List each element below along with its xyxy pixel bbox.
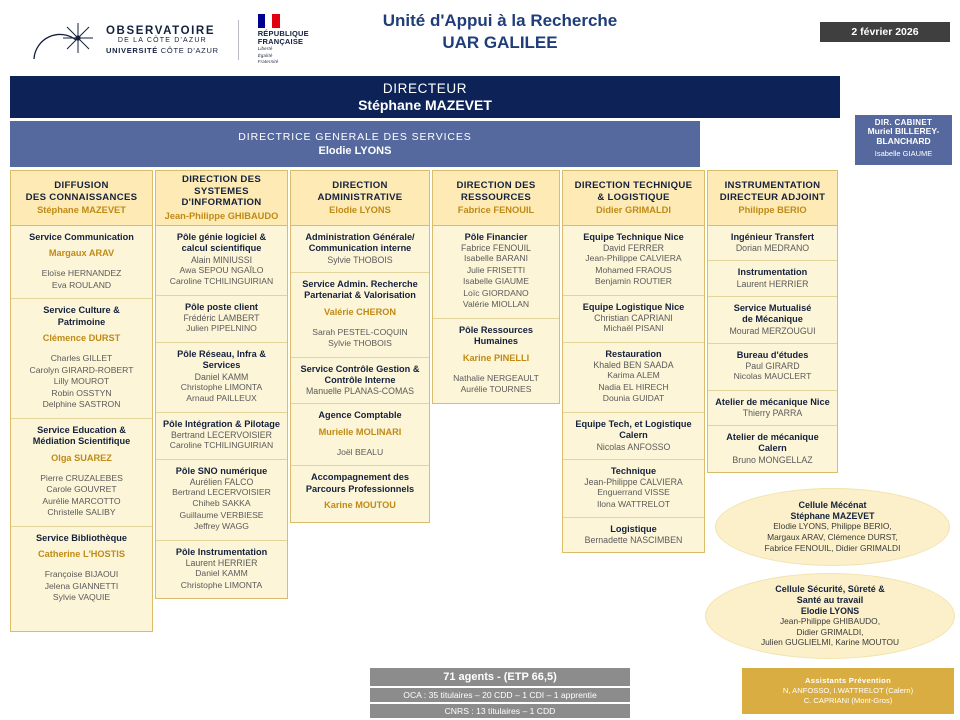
- oval-title: Cellule Sécurité, Sûreté & Santé au trav…: [720, 584, 940, 606]
- group-member: Lilly MOUROT: [15, 376, 148, 388]
- group-lead: Bruno MONGELLAZ: [712, 455, 833, 465]
- service-group[interactable]: Pôle Intégration & PilotageBertrand LECE…: [156, 413, 287, 460]
- group-lead: Bernadette NASCIMBEN: [567, 535, 700, 545]
- group-title: Administration Générale/ Communication i…: [295, 232, 425, 255]
- logo-divider: [238, 20, 239, 60]
- group-title: Equipe Technique Nice: [567, 232, 700, 243]
- group-lead: Sylvie THOBOIS: [295, 255, 425, 265]
- group-lead: Catherine L'HOSTIS: [15, 549, 148, 559]
- service-group[interactable]: Pôle Réseau, Infra & ServicesDaniel KAMM…: [156, 343, 287, 413]
- director-banner: DIRECTEUR Stéphane MAZEVET: [10, 76, 840, 118]
- group-lead: Aurélien FALCO: [160, 477, 283, 487]
- dgs-banner: DIRECTRICE GENERALE DES SERVICES Elodie …: [10, 121, 700, 167]
- oval-member-line: Didier GRIMALDI,: [720, 627, 940, 638]
- oval-member-line: Julien GUGLIELMI, Karine MOUTOU: [720, 637, 940, 648]
- group-title: Service Mutualisé de Mécanique: [712, 303, 833, 326]
- group-title: Service Admin. Recherche Partenariat & V…: [295, 279, 425, 302]
- column-body-2: Pôle génie logiciel & calcul scientifiqu…: [155, 226, 288, 599]
- group-member: Guillaume VERBIESE: [160, 510, 283, 522]
- rf-line-2: FRANÇAISE: [258, 38, 309, 46]
- cnrs-breakdown: CNRS : 13 titulaires – 1 CDD: [370, 704, 630, 718]
- dgs-role: DIRECTRICE GENERALE DES SERVICES: [10, 131, 700, 143]
- service-group[interactable]: Pôle SNO numériqueAurélien FALCOBertrand…: [156, 460, 287, 541]
- group-lead: Thierry PARRA: [712, 408, 833, 418]
- service-group[interactable]: Service Education & Médiation Scientifiq…: [11, 419, 152, 527]
- group-lead: Dorian MEDRANO: [712, 243, 833, 253]
- group-member: Jelena GIANNETTI: [15, 581, 148, 593]
- group-member: Chiheb SAKKA: [160, 498, 283, 510]
- group-member: Isabelle BARANI: [437, 253, 555, 265]
- logo-block: OBSERVATOIRE DE LA CÔTE D'AZUR UNIVERSIT…: [30, 14, 309, 66]
- group-lead: Frédéric LAMBERT: [160, 313, 283, 323]
- group-lead: Mourad MERZOUGUI: [712, 326, 833, 336]
- group-member: Robin OSSTYN: [15, 388, 148, 400]
- group-member: Michaël PISANI: [567, 323, 700, 335]
- group-member: Aurélie MARCOTTO: [15, 496, 148, 508]
- oca-line-2: DE LA CÔTE D'AZUR: [106, 37, 219, 44]
- oca-line-1: OBSERVATOIRE: [106, 25, 219, 37]
- column-head-person: Philippe BERIO: [711, 205, 834, 215]
- org-column-6: INSTRUMENTATION DIRECTEUR ADJOINTPhilipp…: [707, 170, 838, 473]
- group-title: Logistique: [567, 524, 700, 535]
- group-lead: Valérie CHERON: [295, 307, 425, 317]
- oca-line-3: UNIVERSITÉ CÔTE D'AZUR: [106, 47, 219, 55]
- group-member: Christophe LIMONTA: [160, 382, 283, 394]
- group-title: Pôle génie logiciel & calcul scientifiqu…: [160, 232, 283, 255]
- service-group[interactable]: Service CommunicationMargaux ARAVEloïse …: [11, 226, 152, 299]
- group-lead: Bertrand LECERVOISIER: [160, 430, 283, 440]
- org-column-5: DIRECTION TECHNIQUE & LOGISTIQUEDidier G…: [562, 170, 705, 553]
- group-lead: Manuelle PLANAS-COMAS: [295, 386, 425, 396]
- cabinet-box: DIR. CABINET Muriel BILLEREY-BLANCHARD I…: [855, 115, 952, 165]
- group-member: Julien PIPELNINO: [160, 323, 283, 335]
- service-group[interactable]: TechniqueJean-Philippe CALVIERAEnguerran…: [563, 460, 704, 518]
- service-group[interactable]: RestaurationKhaled BEN SAADAKarima ALEMN…: [563, 343, 704, 413]
- group-member: Benjamin ROUTIER: [567, 276, 700, 288]
- column-header-5[interactable]: DIRECTION TECHNIQUE & LOGISTIQUEDidier G…: [562, 170, 705, 226]
- service-group[interactable]: Pôle Ressources HumainesKarine PINELLINa…: [433, 319, 559, 403]
- group-lead: David FERRER: [567, 243, 700, 253]
- group-member: Nathalie NERGEAULT: [437, 373, 555, 385]
- column-header-4[interactable]: DIRECTION DES RESSOURCESFabrice FENOUIL: [432, 170, 560, 226]
- org-column-2: DIRECTION DES SYSTEMES D'INFORMATIONJean…: [155, 170, 288, 599]
- group-member: Sarah PESTEL-COQUIN: [295, 327, 425, 339]
- group-lead: Fabrice FENOUIL: [437, 243, 555, 253]
- cellule-oval-2[interactable]: Cellule Sécurité, Sûreté & Santé au trav…: [705, 573, 955, 659]
- column-title: INSTRUMENTATION DIRECTEUR ADJOINT: [711, 180, 834, 203]
- group-member: Daniel KAMM: [160, 568, 283, 580]
- group-member: Sylvie VAQUIE: [15, 592, 148, 604]
- group-lead: Laurent HERRIER: [160, 558, 283, 568]
- service-group[interactable]: LogistiqueBernadette NASCIMBEN: [563, 518, 704, 552]
- service-group[interactable]: Service Culture & PatrimoineClémence DUR…: [11, 299, 152, 418]
- prevention-box: Assistants Prévention N, ANFOSSO, I.WATT…: [742, 668, 954, 714]
- group-member: Enguerrand VISSE: [567, 487, 700, 499]
- group-member: Sylvie THOBOIS: [295, 338, 425, 350]
- group-title: Atelier de mécanique Nice: [712, 397, 833, 408]
- service-group[interactable]: Equipe Tech, et Logistique CalernNicolas…: [563, 413, 704, 460]
- org-column-3: DIRECTION ADMINISTRATIVEElodie LYONSAdmi…: [290, 170, 430, 523]
- cellule-oval-1[interactable]: Cellule MécénatStéphane MAZEVETElodie LY…: [715, 488, 950, 566]
- oval-member-line: Jean-Philippe GHIBAUDO,: [720, 616, 940, 627]
- group-lead: Karine PINELLI: [437, 353, 555, 363]
- service-group[interactable]: Equipe Logistique NiceChristian CAPRIANI…: [563, 296, 704, 343]
- group-member: Caroline TCHILINGUIRIAN: [160, 440, 283, 452]
- republique-francaise-logo: RÉPUBLIQUE FRANÇAISE Liberté Égalité Fra…: [258, 14, 309, 66]
- group-title: Technique: [567, 466, 700, 477]
- group-title: Service Contrôle Gestion & Contrôle Inte…: [295, 364, 425, 387]
- group-title: Pôle Instrumentation: [160, 547, 283, 558]
- group-title: Equipe Logistique Nice: [567, 302, 700, 313]
- column-title: DIRECTION DES RESSOURCES: [436, 180, 556, 203]
- group-member: Ilona WATTRELOT: [567, 499, 700, 511]
- group-member: Caroline TCHILINGUIRIAN: [160, 276, 283, 288]
- title-line-2: UAR GALILEE: [330, 32, 670, 54]
- service-group[interactable]: Atelier de mécanique CalernBruno MONGELL…: [708, 426, 837, 472]
- group-member: Christophe LIMONTA: [160, 580, 283, 592]
- group-member: Nicolas MAUCLERT: [712, 371, 833, 383]
- service-group[interactable]: Service Mutualisé de MécaniqueMourad MER…: [708, 297, 837, 344]
- column-title: DIRECTION TECHNIQUE & LOGISTIQUE: [566, 180, 701, 203]
- group-member: Eloïse HERNANDEZ: [15, 268, 148, 280]
- group-member: Delphine SASTRON: [15, 399, 148, 411]
- group-member: Christelle SALIBY: [15, 507, 148, 519]
- service-group[interactable]: Pôle FinancierFabrice FENOUILIsabelle BA…: [433, 226, 559, 319]
- service-group[interactable]: Service BibliothèqueCatherine L'HOSTISFr…: [11, 527, 152, 611]
- group-title: Service Education & Médiation Scientifiq…: [15, 425, 148, 448]
- service-group[interactable]: Accompagnement des Parcours Professionne…: [291, 466, 429, 522]
- column-header-3[interactable]: DIRECTION ADMINISTRATIVEElodie LYONS: [290, 170, 430, 226]
- service-group[interactable]: Service Admin. Recherche Partenariat & V…: [291, 273, 429, 358]
- group-member: Awa SEPOU NGAÏLO: [160, 265, 283, 277]
- service-group[interactable]: Equipe Technique NiceDavid FERRERJean-Ph…: [563, 226, 704, 296]
- org-column-1: DIFFUSION DES CONNAISSANCESStéphane MAZE…: [10, 170, 153, 632]
- observatoire-logo-icon: [30, 19, 96, 61]
- oval-member-line: Fabrice FENOUIL, Didier GRIMALDI: [730, 543, 935, 554]
- group-lead: Olga SUAREZ: [15, 453, 148, 463]
- group-member: Eva ROULAND: [15, 280, 148, 292]
- group-member: Pierre CRUZALEBES: [15, 473, 148, 485]
- group-member: Jeffrey WAGG: [160, 521, 283, 533]
- group-lead: Laurent HERRIER: [712, 279, 833, 289]
- group-title: Pôle Financier: [437, 232, 555, 243]
- group-member: Bertrand LECERVOISIER: [160, 487, 283, 499]
- group-lead: Daniel KAMM: [160, 372, 283, 382]
- cabinet-name: Muriel BILLEREY-BLANCHARD: [855, 127, 952, 147]
- group-member: Nadia EL HIRECH: [567, 382, 700, 394]
- group-lead: Jean-Philippe CALVIERA: [567, 477, 700, 487]
- column-header-1[interactable]: DIFFUSION DES CONNAISSANCESStéphane MAZE…: [10, 170, 153, 226]
- page-header: OBSERVATOIRE DE LA CÔTE D'AZUR UNIVERSIT…: [0, 0, 960, 68]
- service-group[interactable]: InstrumentationLaurent HERRIER: [708, 261, 837, 296]
- group-member: Isabelle GIAUME: [437, 276, 555, 288]
- group-title: Service Culture & Patrimoine: [15, 305, 148, 328]
- column-title: DIRECTION DES SYSTEMES D'INFORMATION: [159, 174, 284, 209]
- service-group[interactable]: Pôle génie logiciel & calcul scientifiqu…: [156, 226, 287, 296]
- group-lead: Clémence DURST: [15, 333, 148, 343]
- column-header-2[interactable]: DIRECTION DES SYSTEMES D'INFORMATIONJean…: [155, 170, 288, 226]
- service-group[interactable]: Pôle InstrumentationLaurent HERRIERDanie…: [156, 541, 287, 598]
- cabinet-assistant: Isabelle GIAUME: [855, 150, 952, 159]
- group-lead: Christian CAPRIANI: [567, 313, 700, 323]
- group-member: Carolyn GIRARD-ROBERT: [15, 365, 148, 377]
- group-member: Valérie MIOLLAN: [437, 299, 555, 311]
- group-title: Instrumentation: [712, 267, 833, 278]
- group-title: Service Bibliothèque: [15, 533, 148, 544]
- group-title: Service Communication: [15, 232, 148, 243]
- group-member: Charles GILLET: [15, 353, 148, 365]
- prevention-line-2: C. CAPRIANI (Mont-Gros): [742, 696, 954, 706]
- service-group[interactable]: Bureau d'étudesPaul GIRARDNicolas MAUCLE…: [708, 344, 837, 391]
- title-line-1: Unité d'Appui à la Recherche: [330, 10, 670, 32]
- group-member: Carole GOUVRET: [15, 484, 148, 496]
- group-lead: Nicolas ANFOSSO: [567, 442, 700, 452]
- column-body-6: Ingénieur TransfertDorian MEDRANOInstrum…: [707, 226, 838, 473]
- column-body-1: Service CommunicationMargaux ARAVEloïse …: [10, 226, 153, 632]
- column-head-person: Didier GRIMALDI: [566, 205, 701, 215]
- oval-lead: Elodie LYONS: [720, 606, 940, 616]
- column-header-6[interactable]: INSTRUMENTATION DIRECTEUR ADJOINTPhilipp…: [707, 170, 838, 226]
- observatoire-wordmark: OBSERVATOIRE DE LA CÔTE D'AZUR UNIVERSIT…: [106, 25, 219, 55]
- group-lead: Karine MOUTOU: [295, 500, 425, 510]
- group-title: Accompagnement des Parcours Professionne…: [295, 472, 425, 495]
- prevention-title: Assistants Prévention: [742, 676, 954, 686]
- french-flag-icon: [258, 14, 280, 28]
- group-title: Restauration: [567, 349, 700, 360]
- group-member: Françoise BIJAOUI: [15, 569, 148, 581]
- group-title: Pôle SNO numérique: [160, 466, 283, 477]
- oca-universite-rest: CÔTE D'AZUR: [158, 46, 219, 55]
- group-lead: Murielle MOLINARI: [295, 427, 425, 437]
- service-group[interactable]: Administration Générale/ Communication i…: [291, 226, 429, 273]
- column-title: DIFFUSION DES CONNAISSANCES: [14, 180, 149, 203]
- oca-breakdown: OCA : 35 titulaires – 20 CDD – 1 CDI – 1…: [370, 688, 630, 702]
- director-role: DIRECTEUR: [10, 81, 840, 96]
- group-title: Pôle poste client: [160, 302, 283, 313]
- column-head-person: Fabrice FENOUIL: [436, 205, 556, 215]
- group-title: Agence Comptable: [295, 410, 425, 421]
- group-lead: Khaled BEN SAADA: [567, 360, 700, 370]
- page-title: Unité d'Appui à la Recherche UAR GALILEE: [330, 10, 670, 55]
- service-group[interactable]: Pôle poste clientFrédéric LAMBERTJulien …: [156, 296, 287, 343]
- group-member: Aurélie TOURNES: [437, 384, 555, 396]
- group-title: Ingénieur Transfert: [712, 232, 833, 243]
- oval-title: Cellule Mécénat: [730, 500, 935, 511]
- director-name: Stéphane MAZEVET: [10, 97, 840, 113]
- group-lead: Paul GIRARD: [712, 361, 833, 371]
- column-head-person: Stéphane MAZEVET: [14, 205, 149, 215]
- service-group[interactable]: Service Contrôle Gestion & Contrôle Inte…: [291, 358, 429, 405]
- oca-universite-bold: UNIVERSITÉ: [106, 46, 158, 55]
- group-title: Pôle Réseau, Infra & Services: [160, 349, 283, 372]
- group-member: Joël BEALU: [295, 447, 425, 459]
- column-body-5: Equipe Technique NiceDavid FERRERJean-Ph…: [562, 226, 705, 553]
- group-member: Jean-Philippe CALVIERA: [567, 253, 700, 265]
- total-agents: 71 agents - (ETP 66,5): [370, 668, 630, 686]
- group-title: Pôle Intégration & Pilotage: [160, 419, 283, 430]
- group-member: Dounia GUIDAT: [567, 393, 700, 405]
- group-title: Bureau d'études: [712, 350, 833, 361]
- column-title: DIRECTION ADMINISTRATIVE: [294, 180, 426, 203]
- column-head-person: Elodie LYONS: [294, 205, 426, 215]
- oval-member-line: Elodie LYONS, Philippe BERIO,: [730, 521, 935, 532]
- group-member: Karima ALEM: [567, 370, 700, 382]
- rf-motto: Liberté Égalité Fraternité: [258, 46, 309, 66]
- column-body-3: Administration Générale/ Communication i…: [290, 226, 430, 523]
- column-head-person: Jean-Philippe GHIBAUDO: [159, 211, 284, 221]
- column-body-4: Pôle FinancierFabrice FENOUILIsabelle BA…: [432, 226, 560, 404]
- group-member: Loïc GIORDANO: [437, 288, 555, 300]
- footer-stats: 71 agents - (ETP 66,5) OCA : 35 titulair…: [370, 668, 630, 720]
- group-lead: Alain MINIUSSI: [160, 255, 283, 265]
- service-group[interactable]: Atelier de mécanique NiceThierry PARRA: [708, 391, 837, 426]
- group-member: Julie FRISETTI: [437, 265, 555, 277]
- prevention-line-1: N, ANFOSSO, I.WATTRELOT (Calern): [742, 686, 954, 696]
- service-group[interactable]: Agence ComptableMurielle MOLINARIJoël BE…: [291, 404, 429, 466]
- group-lead: Margaux ARAV: [15, 248, 148, 258]
- date-badge: 2 février 2026: [820, 22, 950, 42]
- service-group[interactable]: Ingénieur TransfertDorian MEDRANO: [708, 226, 837, 261]
- group-title: Pôle Ressources Humaines: [437, 325, 555, 348]
- group-member: Arnaud PAILLEUX: [160, 393, 283, 405]
- oval-lead: Stéphane MAZEVET: [730, 511, 935, 521]
- group-member: Mohamed FRAOUS: [567, 265, 700, 277]
- group-title: Atelier de mécanique Calern: [712, 432, 833, 455]
- dgs-name: Elodie LYONS: [10, 145, 700, 157]
- group-title: Equipe Tech, et Logistique Calern: [567, 419, 700, 442]
- org-column-4: DIRECTION DES RESSOURCESFabrice FENOUILP…: [432, 170, 560, 404]
- oval-member-line: Margaux ARAV, Clémence DURST,: [730, 532, 935, 543]
